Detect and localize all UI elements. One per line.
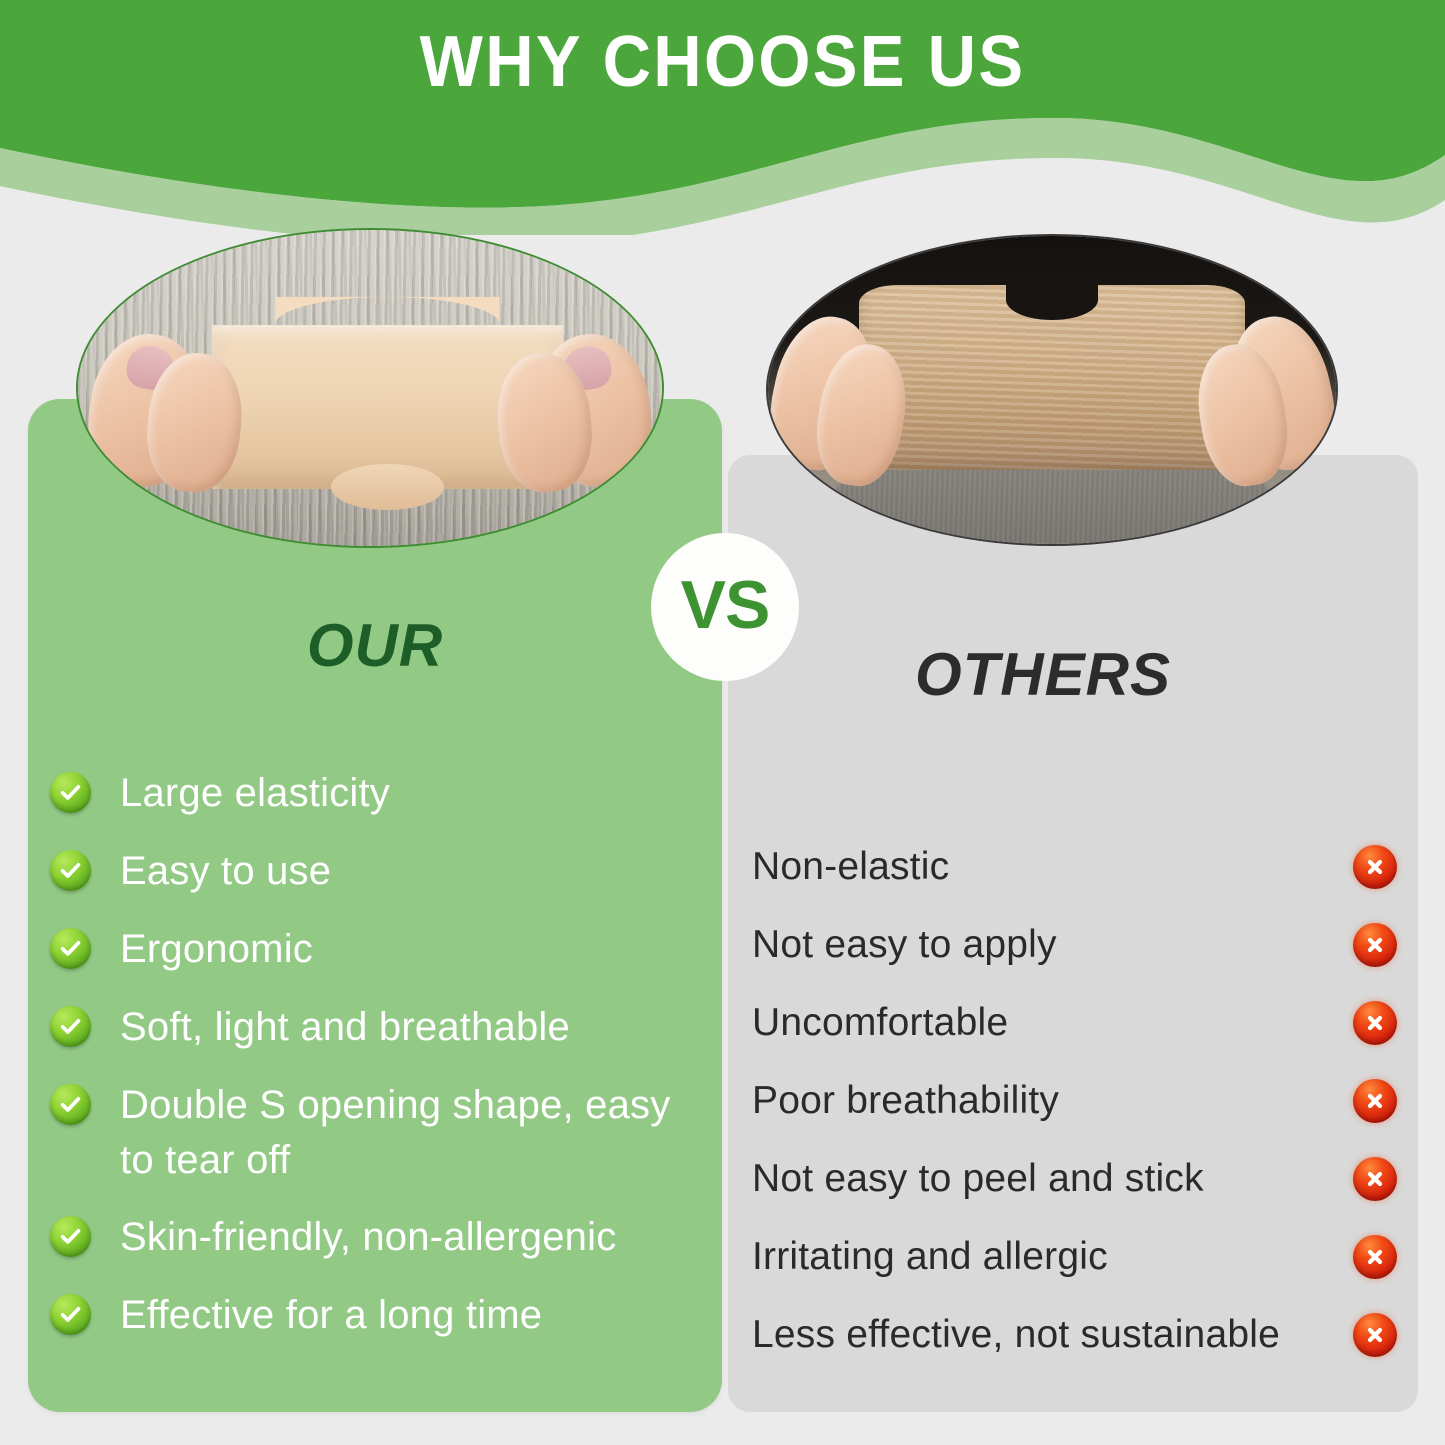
list-item-label: Skin-friendly, non-allergenic [120,1210,710,1265]
list-item-label: Uncomfortable [752,1000,1008,1047]
x-circle-icon [1353,845,1397,889]
infographic-page: WHY CHOOSE US [0,0,1445,1445]
list-item-label: Less effective, not sustainable [752,1312,1280,1359]
list-item: Uncomfortable [752,984,1397,1062]
x-circle-icon [1353,1001,1397,1045]
our-heading: OUR [28,616,722,676]
list-item-label: Not easy to peel and stick [752,1156,1204,1203]
list-item: Not easy to peel and stick [752,1140,1397,1218]
list-item: Easy to use [50,844,710,900]
check-circle-icon [50,928,91,969]
x-circle-icon [1353,1235,1397,1279]
check-circle-icon [50,850,91,891]
list-item-label: Soft, light and breathable [120,1000,710,1055]
check-circle-icon [50,1006,91,1047]
list-item: Soft, light and breathable [50,1000,710,1056]
list-item-label: Ergonomic [120,922,710,977]
x-circle-icon [1353,1313,1397,1357]
list-item: Effective for a long time [50,1288,710,1344]
our-benefits-list: Large elasticity Easy to use Ergonomic S… [50,766,710,1366]
others-photo-scene [768,236,1336,544]
patch-bottom-notch [331,464,443,510]
list-item: Skin-friendly, non-allergenic [50,1210,710,1266]
list-item-label: Poor breathability [752,1078,1059,1125]
list-item: Double S opening shape, easy to tear off [50,1078,710,1188]
list-item-label: Large elasticity [120,766,710,821]
list-item-label: Effective for a long time [120,1288,710,1343]
list-item: Ergonomic [50,922,710,978]
check-circle-icon [50,1216,91,1257]
list-item: Irritating and allergic [752,1218,1397,1296]
list-item-label: Not easy to apply [752,922,1057,969]
others-drawbacks-list: Non-elastic Not easy to apply Uncomforta… [752,828,1397,1374]
our-product-photo [76,228,664,548]
page-title: WHY CHOOSE US [51,26,1395,98]
x-circle-icon [1353,923,1397,967]
list-item-label: Easy to use [120,844,710,899]
patch-top-notch [1006,280,1099,321]
others-heading: OTHERS [728,645,1358,705]
check-circle-icon [50,772,91,813]
list-item-label: Irritating and allergic [752,1234,1108,1281]
wrinkled-tan-patch [859,285,1245,470]
list-item: Not easy to apply [752,906,1397,984]
list-item: Non-elastic [752,828,1397,906]
x-circle-icon [1353,1157,1397,1201]
check-circle-icon [50,1294,91,1335]
list-item-label: Double S opening shape, easy to tear off [120,1078,710,1188]
header-banner: WHY CHOOSE US [0,0,1445,235]
list-item: Large elasticity [50,766,710,822]
check-circle-icon [50,1084,91,1125]
list-item: Poor breathability [752,1062,1397,1140]
vs-label: VS [681,571,770,639]
vs-badge: VS [651,533,799,681]
list-item: Less effective, not sustainable [752,1296,1397,1374]
list-item-label: Non-elastic [752,844,949,891]
x-circle-icon [1353,1079,1397,1123]
others-product-photo [766,234,1338,546]
our-photo-scene [78,230,662,546]
